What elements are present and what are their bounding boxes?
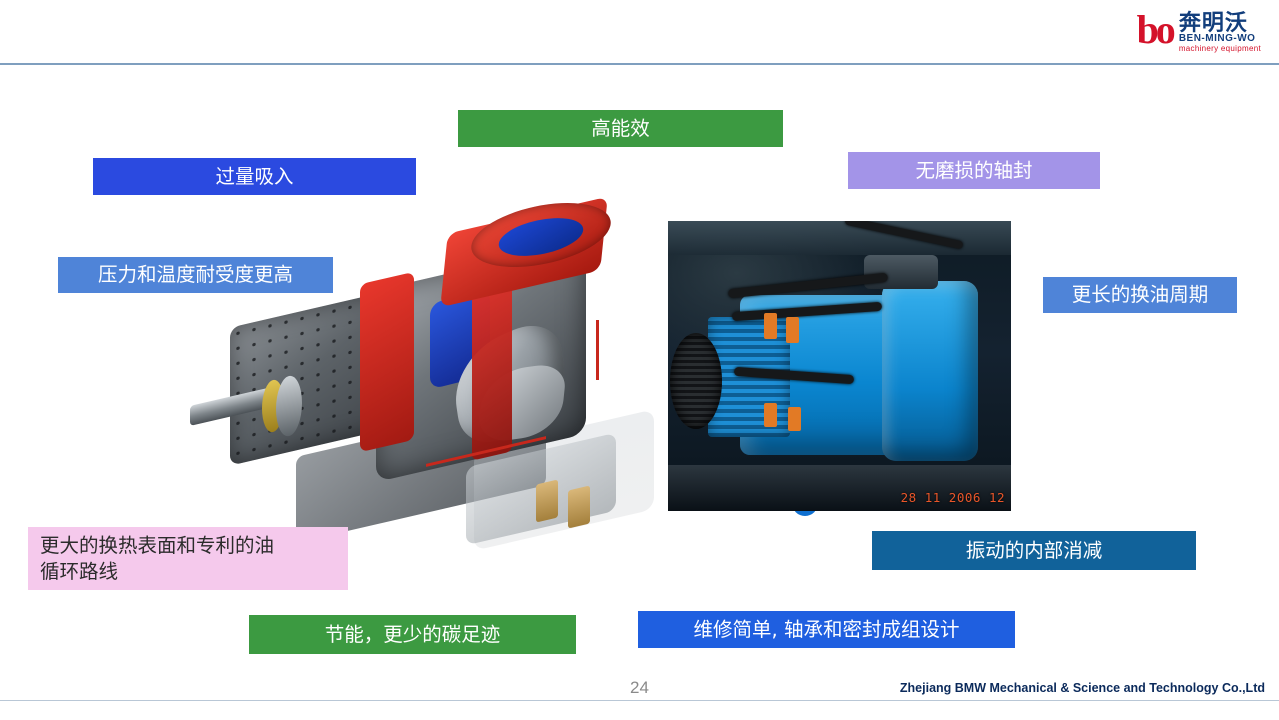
photo-timestamp: 28 11 2006 12 <box>901 490 1005 505</box>
logo-name-cn: 奔明沃 <box>1179 11 1261 34</box>
company-logo: bo 奔明沃 BEN-MING-WO machinery equipment <box>1085 6 1261 58</box>
compressor-render-image <box>180 200 650 540</box>
callout-over-suction: 过量吸入 <box>93 158 416 195</box>
callout-high-efficiency: 高能效 <box>458 110 783 147</box>
callout-energy-saving-low-carbon: 节能，更少的碳足迹 <box>249 615 576 654</box>
callout-easy-maintenance: 维修简单, 轴承和密封成组设计 <box>638 611 1015 648</box>
logo-monogram: bo <box>1137 10 1173 50</box>
callout-longer-oil-change-interval: 更长的换油周期 <box>1043 277 1237 313</box>
compressor-photo: 28 11 2006 12 <box>668 221 1011 511</box>
logo-tagline: machinery equipment <box>1179 45 1261 53</box>
callout-higher-pressure-temperature: 压力和温度耐受度更高 <box>58 257 333 293</box>
callout-larger-heat-exchange-surface: 更大的换热表面和专利的油 循环路线 <box>28 527 348 590</box>
callout-internal-vibration-reduction: 振动的内部消减 <box>872 531 1196 570</box>
callout-wear-free-shaft-seal: 无磨损的轴封 <box>848 152 1100 189</box>
footer-company-name: Zhejiang BMW Mechanical & Science and Te… <box>900 681 1265 695</box>
header-divider <box>0 63 1279 65</box>
footer-divider <box>0 700 1279 701</box>
logo-wordmark: 奔明沃 BEN-MING-WO machinery equipment <box>1179 11 1261 53</box>
slide: bo 奔明沃 BEN-MING-WO machinery equipment <box>0 0 1279 720</box>
